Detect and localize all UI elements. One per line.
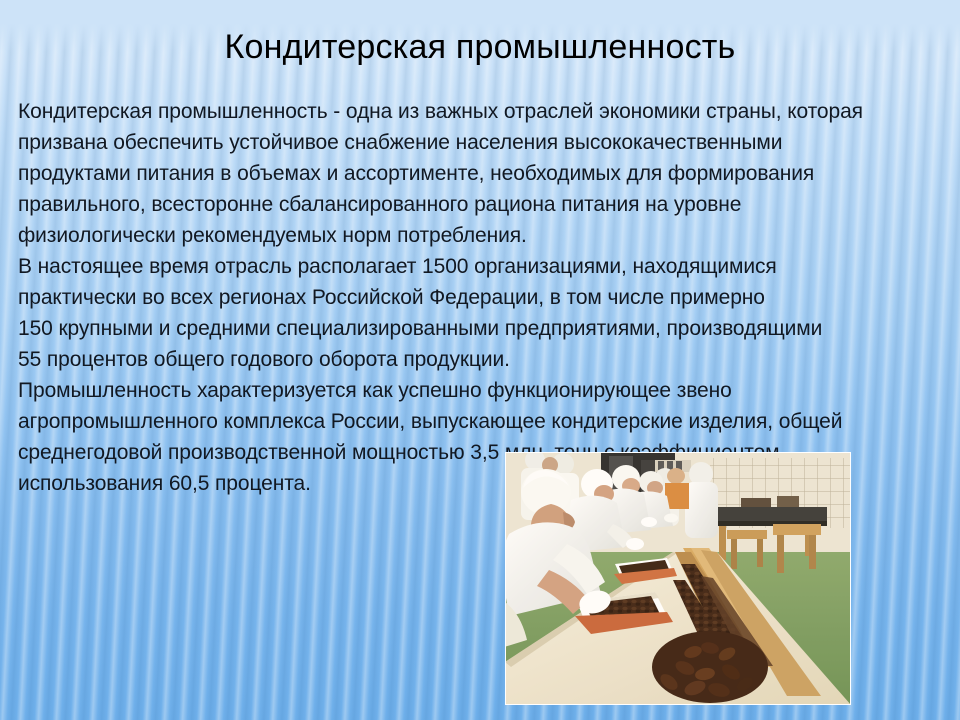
body-line: В настоящее время отрасль располагает 15… xyxy=(18,251,950,282)
body-line: агропромышленного комплекса России, выпу… xyxy=(18,406,950,437)
body-line: 150 крупными и средними специализированн… xyxy=(18,313,950,344)
factory-photo xyxy=(505,452,851,705)
slide-title: Кондитерская промышленность xyxy=(0,26,960,68)
body-line: правильного, всесторонне сбалансированно… xyxy=(18,189,950,220)
body-line: призвана обеспечить устойчивое снабжение… xyxy=(18,127,950,158)
slide-body-text: Кондитерская промышленность - одна из ва… xyxy=(18,96,950,499)
body-line: практически во всех регионах Российской … xyxy=(18,282,950,313)
factory-photo-illustration xyxy=(505,452,851,705)
body-line: Кондитерская промышленность - одна из ва… xyxy=(18,96,950,127)
body-line: продуктами питания в объемах и ассортиме… xyxy=(18,158,950,189)
body-line: Промышленность характеризуется как успеш… xyxy=(18,375,950,406)
body-line: физиологически рекомендуемых норм потреб… xyxy=(18,220,950,251)
body-line: 55 процентов общего годового оборота про… xyxy=(18,344,950,375)
presentation-slide: Кондитерская промышленность Кондитерская… xyxy=(0,0,960,720)
